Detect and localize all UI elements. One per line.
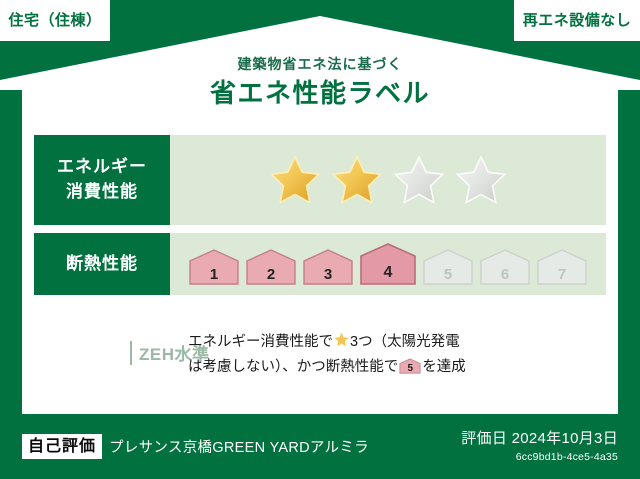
zeh-badge: ZEH水準 bbox=[34, 340, 180, 365]
insulation-level-1-number: 1 bbox=[188, 267, 240, 282]
zeh-desc-1b: 3つ（太陽光発電 bbox=[350, 334, 460, 350]
footer-right: 評価日 2024年10月3日 6cc9bd1b-4ce5-4a35 bbox=[461, 430, 618, 464]
row-insulation-performance-label: 断熱性能 bbox=[34, 233, 170, 295]
zeh-chart-icon bbox=[130, 341, 132, 365]
row-insulation-label-line1: 断熱性能 bbox=[66, 252, 138, 277]
zeh-desc-2a: は考慮しない）、かつ断熱性能で bbox=[188, 359, 398, 375]
insulation-level-6: 6 bbox=[479, 248, 531, 286]
tag-renewable-energy: 再エネ設備なし bbox=[514, 0, 640, 41]
star-icon-filled-2 bbox=[329, 153, 385, 207]
zeh-description-line2: は考慮しない）、かつ断熱性能で5を達成 bbox=[188, 355, 606, 380]
insulation-level-1: 1 bbox=[188, 248, 240, 286]
row-energy-label-line1: エネルギー bbox=[57, 155, 147, 180]
footer-left: 自己評価 プレサンス京橋GREEN YARDアルミラ bbox=[22, 434, 369, 459]
tag-building-type: 住宅（住棟） bbox=[0, 0, 110, 41]
zeh-description: エネルギー消費性能で3つ（太陽光発電 は考慮しない）、かつ断熱性能で5を達成 bbox=[180, 330, 606, 381]
tag-building-type-text: 住宅（住棟） bbox=[8, 13, 101, 28]
zeh-desc-1a: エネルギー消費性能で bbox=[188, 334, 333, 350]
zeh-description-line1: エネルギー消費性能で3つ（太陽光発電 bbox=[188, 330, 606, 355]
row-energy-performance: エネルギー 消費性能 bbox=[34, 135, 606, 225]
insulation-level-scale: 1 2 3 bbox=[188, 242, 588, 286]
tag-renewable-energy-text: 再エネ設備なし bbox=[523, 13, 632, 28]
insulation-level-7-number: 7 bbox=[536, 267, 588, 282]
star-icon-empty-4 bbox=[453, 153, 509, 207]
insulation-level-5-number: 5 bbox=[422, 267, 474, 282]
house-icon-inline: 5 bbox=[399, 358, 421, 374]
star-icon-empty-3 bbox=[391, 153, 447, 207]
insulation-level-2: 2 bbox=[245, 248, 297, 286]
row-insulation-performance: 断熱性能 1 2 bbox=[34, 233, 606, 295]
energy-performance-label: 住宅（住棟） 再エネ設備なし 建築物省エネ法に基づく 省エネ性能ラベル エネルギ… bbox=[0, 0, 640, 479]
insulation-level-6-number: 6 bbox=[479, 267, 531, 282]
label-title: 建築物省エネ法に基づく 省エネ性能ラベル bbox=[0, 56, 640, 111]
row-insulation-performance-value: 1 2 3 bbox=[170, 233, 606, 295]
zeh-desc-2b: を達成 bbox=[422, 359, 466, 375]
title-main: 省エネ性能ラベル bbox=[0, 77, 640, 111]
self-evaluation-tag: 自己評価 bbox=[22, 434, 102, 459]
label-footer: 自己評価 プレサンス京橋GREEN YARDアルミラ 評価日 2024年10月3… bbox=[0, 414, 640, 479]
star-rating bbox=[267, 153, 509, 207]
house-icon-inline-number: 5 bbox=[399, 364, 421, 374]
insulation-level-4-number: 4 bbox=[359, 265, 417, 281]
row-energy-performance-value bbox=[170, 135, 606, 225]
row-energy-label-line2: 消費性能 bbox=[66, 180, 138, 205]
evaluation-id: 6cc9bd1b-4ce5-4a35 bbox=[461, 451, 618, 464]
rating-rows: エネルギー 消費性能 bbox=[34, 135, 606, 295]
insulation-level-3-number: 3 bbox=[302, 267, 354, 282]
evaluation-date: 評価日 2024年10月3日 bbox=[461, 430, 618, 448]
title-subtitle: 建築物省エネ法に基づく bbox=[0, 56, 640, 73]
zeh-section: ZEH水準 エネルギー消費性能で3つ（太陽光発電 は考慮しない）、かつ断熱性能で… bbox=[34, 330, 606, 381]
building-name: プレサンス京橋GREEN YARDアルミラ bbox=[109, 436, 369, 457]
insulation-level-7: 7 bbox=[536, 248, 588, 286]
insulation-level-4-current: 4 bbox=[359, 242, 417, 286]
row-energy-performance-label: エネルギー 消費性能 bbox=[34, 135, 170, 225]
insulation-level-2-number: 2 bbox=[245, 267, 297, 282]
insulation-level-3: 3 bbox=[302, 248, 354, 286]
star-icon-filled-1 bbox=[267, 153, 323, 207]
star-icon-inline bbox=[333, 331, 350, 348]
insulation-level-5: 5 bbox=[422, 248, 474, 286]
